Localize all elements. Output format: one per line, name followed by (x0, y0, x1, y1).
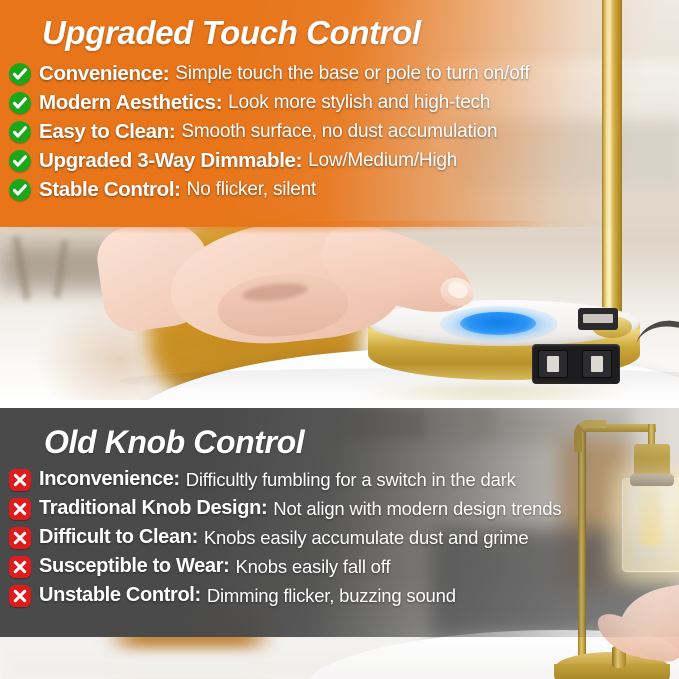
benefit-title: Convenience: (39, 62, 169, 86)
list-item: Unstable Control: Dimming flicker, buzzi… (0, 581, 561, 610)
drawback-desc: Difficultly fumbling for a switch in the… (186, 469, 516, 491)
check-circle-icon (9, 150, 31, 172)
touch-control-benefit-list: Convenience: Simple touch the base or po… (0, 59, 529, 204)
x-square-icon (9, 585, 31, 607)
benefit-title: Stable Control: (39, 178, 181, 202)
touch-glow-core (460, 312, 536, 335)
drawback-title: Difficult to Clean: (39, 526, 198, 549)
benefit-title: Upgraded 3-Way Dimmable: (39, 149, 302, 173)
benefit-title: Easy to Clean: (39, 120, 175, 144)
knob-control-drawback-list: Inconvenience: Difficultly fumbling for … (0, 465, 561, 610)
usb-port (538, 350, 568, 378)
drawback-title: Traditional Knob Design: (39, 497, 267, 520)
x-square-icon (9, 527, 31, 549)
list-item: Convenience: Simple touch the base or po… (0, 59, 529, 88)
x-square-icon (9, 556, 31, 578)
page-title-touch-control: Upgraded Touch Control (42, 14, 421, 52)
drawback-desc: Dimming flicker, buzzing sound (207, 585, 456, 607)
drawback-desc: Knobs easily accumulate dust and grime (204, 527, 529, 549)
drawback-title: Unstable Control: (39, 584, 201, 607)
drawback-title: Inconvenience: (39, 468, 180, 491)
hand-touching-base (170, 222, 470, 392)
x-square-icon (9, 469, 31, 491)
benefit-desc: Low/Medium/High (308, 150, 457, 172)
check-circle-icon (9, 92, 31, 114)
list-item: Difficult to Clean: Knobs easily accumul… (0, 523, 561, 552)
usb-plate (532, 344, 620, 384)
x-square-icon (9, 498, 31, 520)
drawback-desc: Not align with modern design trends (273, 498, 561, 520)
benefit-desc: Simple touch the base or pole to turn on… (175, 63, 529, 85)
benefit-desc: Look more stylish and high-tech (228, 92, 490, 114)
drawback-desc: Knobs easily fall off (235, 556, 390, 578)
check-circle-icon (9, 121, 31, 143)
benefit-desc: No flicker, silent (187, 179, 316, 201)
panel-divider (0, 400, 679, 408)
drawback-title: Susceptible to Wear: (39, 555, 229, 578)
ac-outlet (578, 308, 618, 330)
list-item: Inconvenience: Difficultly fumbling for … (0, 465, 561, 494)
usb-port (582, 350, 612, 378)
list-item: Modern Aesthetics: Look more stylish and… (0, 88, 529, 117)
check-circle-icon (9, 63, 31, 85)
list-item: Susceptible to Wear: Knobs easily fall o… (0, 552, 561, 581)
list-item: Traditional Knob Design: Not align with … (0, 494, 561, 523)
check-circle-icon (9, 179, 31, 201)
list-item: Stable Control: No flicker, silent (0, 175, 529, 204)
benefit-title: Modern Aesthetics: (39, 91, 222, 115)
page-title-knob-control: Old Knob Control (44, 424, 304, 461)
product-comparison-infographic: Upgraded Touch Control Convenience: Simp… (0, 0, 679, 679)
list-item: Easy to Clean: Smooth surface, no dust a… (0, 117, 529, 146)
benefit-desc: Smooth surface, no dust accumulation (181, 121, 497, 143)
list-item: Upgraded 3-Way Dimmable: Low/Medium/High (0, 146, 529, 175)
